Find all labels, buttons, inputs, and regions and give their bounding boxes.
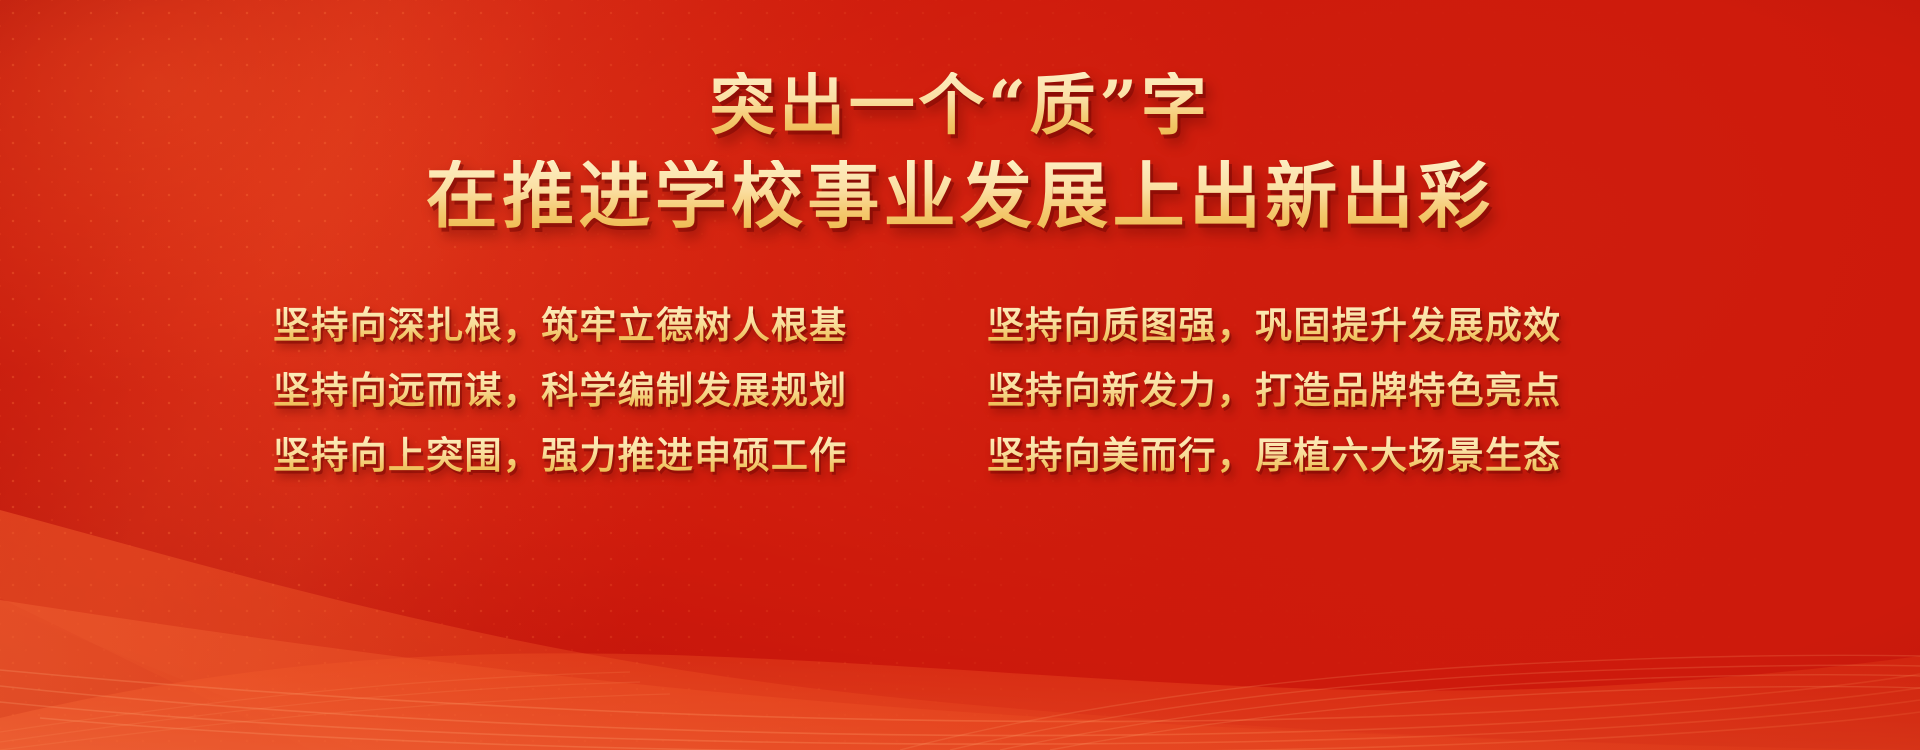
slogan-row1-right: 坚持向质图强，巩固提升发展成效 bbox=[987, 306, 1647, 345]
banner-canvas: 突出一个“质”字 在推进学校事业发展上出新出彩 坚持向深扎根，筑牢立德树人根基 … bbox=[0, 0, 1920, 750]
banner-title: 突出一个“质”字 在推进学校事业发展上出新出彩 bbox=[0, 72, 1920, 232]
slogan-row2-right: 坚持向新发力，打造品牌特色亮点 bbox=[987, 371, 1647, 410]
slogan-row: 坚持向远而谋，科学编制发展规划 坚持向新发力，打造品牌特色亮点 bbox=[273, 371, 1647, 410]
title-line-2: 在推进学校事业发展上出新出彩 bbox=[0, 160, 1920, 232]
slogan-grid: 坚持向深扎根，筑牢立德树人根基 坚持向质图强，巩固提升发展成效 坚持向远而谋，科… bbox=[0, 306, 1920, 475]
slogan-row1-left: 坚持向深扎根，筑牢立德树人根基 bbox=[273, 306, 933, 345]
slogan-row2-left: 坚持向远而谋，科学编制发展规划 bbox=[273, 371, 933, 410]
slogan-row: 坚持向上突围，强力推进申硕工作 坚持向美而行，厚植六大场景生态 bbox=[273, 436, 1647, 475]
slogan-row: 坚持向深扎根，筑牢立德树人根基 坚持向质图强，巩固提升发展成效 bbox=[273, 306, 1647, 345]
slogan-row3-right: 坚持向美而行，厚植六大场景生态 bbox=[987, 436, 1647, 475]
banner-content: 突出一个“质”字 在推进学校事业发展上出新出彩 坚持向深扎根，筑牢立德树人根基 … bbox=[0, 0, 1920, 750]
title-line-1: 突出一个“质”字 bbox=[0, 72, 1920, 138]
slogan-row3-left: 坚持向上突围，强力推进申硕工作 bbox=[273, 436, 933, 475]
